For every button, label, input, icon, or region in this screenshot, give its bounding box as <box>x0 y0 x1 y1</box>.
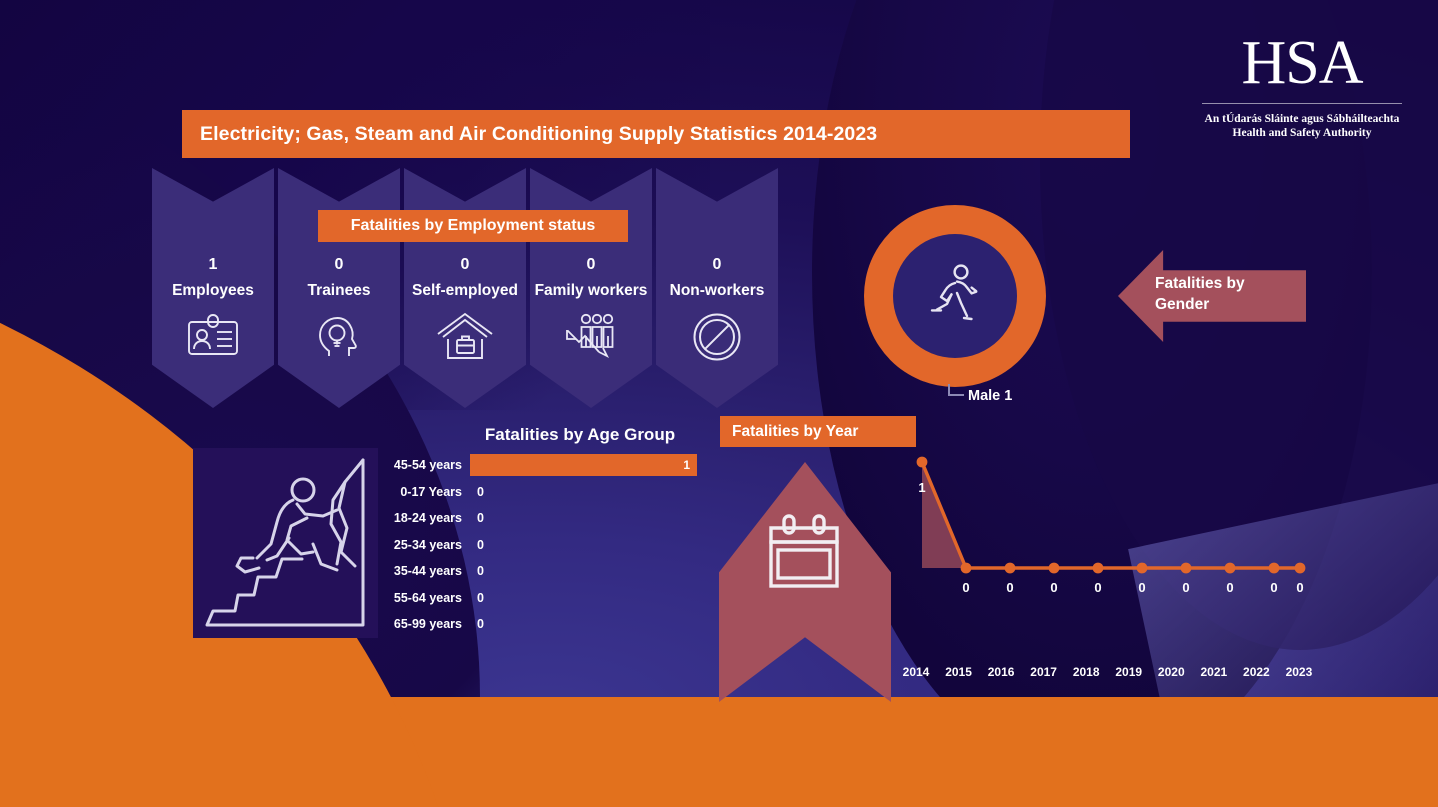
hsa-logo: HSA An tÚdarás Sláinte agus Sábháilteach… <box>1196 32 1408 140</box>
age-group-chart: 45-54 years 1 0-17 Years 0 18-24 years 0… <box>378 452 708 638</box>
id-card-icon <box>185 312 241 363</box>
year-chart-label: 0 <box>1296 580 1303 595</box>
age-group-bar-value: 0 <box>470 485 484 499</box>
age-group-row[interactable]: 25-34 years 0 <box>378 532 708 559</box>
age-group-bar-value: 1 <box>683 458 690 472</box>
year-axis-tick: 2016 <box>980 665 1022 679</box>
year-axis-tick: 2014 <box>895 665 937 679</box>
employment-label: Trainees <box>308 282 371 300</box>
age-group-bar-track: 0 <box>470 585 708 612</box>
year-chart-title: Fatalities by Year <box>720 416 916 447</box>
climber-illustration-panel <box>193 448 378 638</box>
age-group-bar-value: 0 <box>470 564 484 578</box>
year-axis-tick: 2019 <box>1108 665 1150 679</box>
page-title: Electricity; Gas, Steam and Air Conditio… <box>182 110 1130 158</box>
age-group-category: 35-44 years <box>378 564 470 578</box>
age-group-chart-title: Fatalities by Age Group <box>435 425 725 445</box>
age-group-bar-value: 0 <box>470 538 484 552</box>
age-group-bar: 1 <box>470 454 697 476</box>
year-chart-label: 0 <box>1226 580 1233 595</box>
year-chart-label: 0 <box>1094 580 1101 595</box>
climber-icon <box>193 625 378 642</box>
employment-item-employees[interactable]: 1 Employees <box>150 168 276 408</box>
year-chart-point <box>1093 563 1104 574</box>
gender-donut-chart[interactable] <box>864 205 1046 387</box>
employment-item-non-workers[interactable]: 0 Non-workers <box>654 168 780 408</box>
year-chart-point <box>917 457 928 468</box>
logo-divider <box>1202 103 1402 104</box>
age-group-bar-track: 0 <box>470 505 708 532</box>
year-chart-point <box>1181 563 1192 574</box>
age-group-bar-track: 0 <box>470 558 708 585</box>
home-briefcase-icon <box>436 312 494 365</box>
year-chart-line <box>922 462 1300 568</box>
employment-value: 0 <box>713 256 722 274</box>
employment-status-title: Fatalities by Employment status <box>318 210 628 242</box>
year-chart-point <box>1137 563 1148 574</box>
donut-center <box>893 234 1017 358</box>
gender-banner-line2: Gender <box>1155 294 1285 315</box>
employment-status-title-text: Fatalities by Employment status <box>351 217 596 235</box>
gender-donut-label: Male 1 <box>968 388 1012 404</box>
head-lightbulb-icon <box>315 312 363 365</box>
employment-value: 0 <box>587 256 596 274</box>
hsa-logo-subtitle-english: Health and Safety Authority <box>1196 126 1408 140</box>
employment-label: Self-employed <box>412 282 518 300</box>
dashboard-canvas: HSA An tÚdarás Sláinte agus Sábháilteach… <box>0 0 1438 807</box>
age-group-bar-value: 0 <box>470 617 484 631</box>
year-line-chart[interactable]: 1 0 0 0 0 0 0 0 0 0 <box>900 450 1320 690</box>
age-group-row[interactable]: 55-64 years 0 <box>378 585 708 612</box>
employment-value: 0 <box>335 256 344 274</box>
people-trend-icon <box>563 312 619 365</box>
employment-label: Family workers <box>535 282 648 300</box>
year-chart-label: 0 <box>1138 580 1145 595</box>
year-chart-point <box>1005 563 1016 574</box>
age-group-category: 0-17 Years <box>378 485 470 499</box>
employment-status-section: 1 Employees 0 Trainees <box>152 168 800 408</box>
employment-label: Employees <box>172 282 254 300</box>
year-chart-point <box>1269 563 1280 574</box>
employment-item-self-employed[interactable]: 0 Self-employed <box>402 168 528 408</box>
age-group-row[interactable]: 35-44 years 0 <box>378 558 708 585</box>
employment-value: 0 <box>461 256 470 274</box>
employment-item-trainees[interactable]: 0 Trainees <box>276 168 402 408</box>
age-group-row[interactable]: 18-24 years 0 <box>378 505 708 532</box>
year-chart-point <box>1049 563 1060 574</box>
age-group-bar-value: 0 <box>470 591 484 605</box>
year-chart-axis: 2014 2015 2016 2017 2018 2019 2020 2021 … <box>895 665 1320 679</box>
employment-label: Non-workers <box>670 282 765 300</box>
year-axis-tick: 2015 <box>938 665 980 679</box>
age-group-bar-track: 0 <box>470 532 708 559</box>
age-group-bar-value: 0 <box>470 511 484 525</box>
year-chart-label: 1 <box>918 480 925 495</box>
year-chart-point <box>961 563 972 574</box>
hsa-logo-subtitle-irish: An tÚdarás Sláinte agus Sábháilteachta <box>1196 112 1408 126</box>
no-entry-icon <box>692 312 742 367</box>
year-chart-label: 0 <box>1006 580 1013 595</box>
year-chart-label: 0 <box>962 580 969 595</box>
page-title-text: Electricity; Gas, Steam and Air Conditio… <box>200 123 877 146</box>
age-group-bar-track: 1 <box>470 452 708 479</box>
calendar-icon <box>765 512 843 597</box>
age-group-row[interactable]: 65-99 years 0 <box>378 611 708 638</box>
age-group-bar-track: 0 <box>470 479 708 506</box>
year-axis-tick: 2023 <box>1278 665 1320 679</box>
year-axis-tick: 2018 <box>1065 665 1107 679</box>
year-axis-tick: 2022 <box>1235 665 1277 679</box>
year-chart-label: 0 <box>1050 580 1057 595</box>
employment-item-family-workers[interactable]: 0 Family workers <box>528 168 654 408</box>
year-chart-label: 0 <box>1270 580 1277 595</box>
year-chart-title-text: Fatalities by Year <box>732 423 858 441</box>
year-axis-tick: 2020 <box>1150 665 1192 679</box>
year-chart-point <box>1225 563 1236 574</box>
employment-value: 1 <box>209 256 218 274</box>
donut-leader-line <box>948 384 964 396</box>
age-group-category: 55-64 years <box>378 591 470 605</box>
gender-banner-line1: Fatalities by <box>1155 273 1285 294</box>
age-group-category: 18-24 years <box>378 511 470 525</box>
year-axis-tick: 2017 <box>1023 665 1065 679</box>
running-person-icon <box>927 263 983 330</box>
age-group-row[interactable]: 45-54 years 1 <box>378 452 708 479</box>
age-group-category: 65-99 years <box>378 617 470 631</box>
year-axis-tick: 2021 <box>1193 665 1235 679</box>
age-group-bar-track: 0 <box>470 611 708 638</box>
gender-banner-text: Fatalities by Gender <box>1155 273 1285 315</box>
hsa-logo-mark: HSA <box>1196 32 1408 94</box>
year-chart-label: 0 <box>1182 580 1189 595</box>
year-chart-point <box>1295 563 1306 574</box>
age-group-category: 25-34 years <box>378 538 470 552</box>
age-group-row[interactable]: 0-17 Years 0 <box>378 479 708 506</box>
age-group-category: 45-54 years <box>378 458 470 472</box>
